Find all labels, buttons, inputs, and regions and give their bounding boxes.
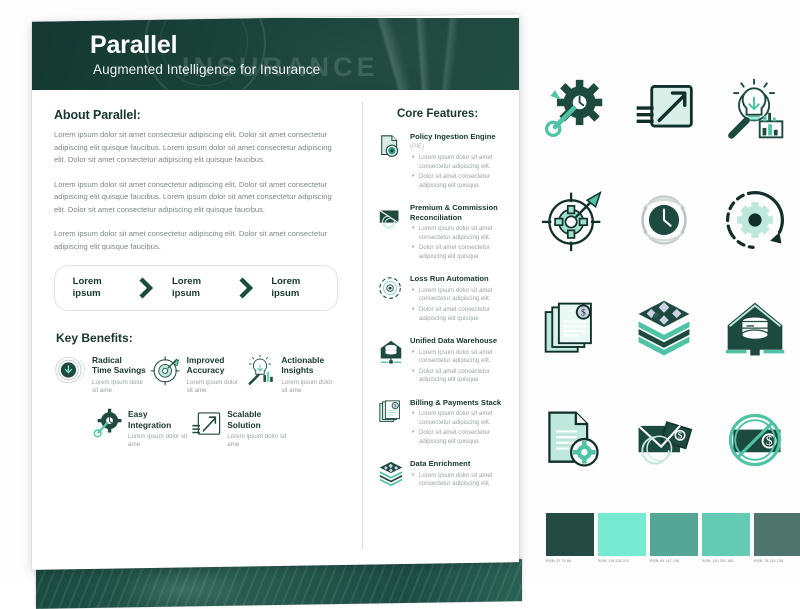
feature-item: $ Billing & Payments Stack Lorem ipsum d… (377, 398, 507, 449)
radar-loss-run-icon (377, 275, 405, 303)
lightbulb-insight-icon (243, 353, 277, 387)
icon-library-board: $ (528, 55, 800, 525)
about-paragraph: Lorem ipsum dolor sit amet consectetur a… (54, 228, 338, 253)
feature-abbrev: (PIE) (410, 143, 424, 150)
page-header-banner: INSURANCE Parallel Augmented Intelligenc… (32, 18, 519, 90)
swatch-chip (546, 513, 594, 556)
benefit-desc: Lorem ipsum dolor sit ame (92, 379, 149, 396)
swatch-chip (598, 513, 646, 556)
feature-name: Loss Run Automation (410, 274, 489, 283)
benefit-desc: Lorem ipsum dolor sit ame (281, 379, 338, 396)
swatch-chip (702, 513, 750, 556)
key-benefits-row-2: EasyIntegration Lorem ipsum dolor sit am… (54, 407, 338, 461)
color-swatch: RGB: 37 74 66 (546, 513, 594, 563)
color-swatch: RGB: 119 235 210 (598, 513, 646, 563)
feature-item: Data Enrichment Lorem ipsum dolor sit am… (377, 459, 507, 491)
no-money-icon: $ (709, 385, 800, 495)
color-swatch: RGB: 100 202 180 (702, 513, 750, 563)
color-palette: RGB: 37 74 66 RGB: 119 235 210 RGB: 84 1… (546, 513, 800, 563)
data-layers-icon (619, 275, 710, 385)
benefit-item: EasyIntegration Lorem ipsum dolor sit am… (90, 407, 189, 449)
benefit-item: RadicalTime Savings Lorem ipsum dolor si… (54, 353, 149, 395)
svg-text:$: $ (678, 431, 683, 442)
chevron-right-icon (238, 277, 254, 299)
feature-item: Policy Ingestion Engine (PIE) Lorem ipsu… (377, 132, 507, 192)
swatch-label: RGB: 84 167 149 (650, 559, 698, 563)
benefit-desc: Lorem ipsum dolor sit ame (187, 379, 244, 396)
right-column: Core Features: Policy Ingestion Eng (363, 94, 519, 566)
svg-text:$: $ (766, 433, 773, 448)
data-layers-icon (377, 460, 405, 488)
growth-arrow-box-icon (619, 55, 710, 165)
svg-text:$: $ (581, 307, 586, 318)
brand-name: Parallel (90, 32, 320, 58)
benefit-item: ActionableInsights Lorem ipsum dolor sit… (243, 353, 338, 395)
feature-name: Data Enrichment (410, 459, 470, 468)
key-benefits-title: Key Benefits: (56, 331, 338, 345)
billing-documents-icon: $ (377, 399, 405, 427)
feature-bullet: Lorem ipsum dolor sit amet consectetur a… (419, 154, 507, 171)
feature-bullet: Dolor sit amet consectetur adipiscing el… (419, 429, 507, 446)
document-gear-icon (377, 133, 405, 161)
target-gear-arrow-icon (528, 165, 619, 275)
data-warehouse-house-icon (709, 275, 800, 385)
feature-bullet: Lorem ipsum dolor sit amet consectetur a… (419, 472, 507, 489)
feature-name: Premium & Commission Reconciliation (410, 203, 498, 221)
brand-block: Parallel Augmented Intelligence for Insu… (90, 32, 320, 77)
benefit-title: ActionableInsights (281, 355, 338, 376)
swatch-label: RGB: 78 116 108 (754, 559, 800, 563)
process-steps-card: Lorem ipsum Lorem ipsum Lorem ipsum (54, 265, 338, 311)
core-features-title: Core Features: (397, 108, 507, 120)
feature-bullet: Dolor sit amet consectetur adipiscing el… (419, 244, 507, 261)
process-step[interactable]: Lorem ipsum (55, 276, 138, 300)
feature-bullet: Lorem ipsum dolor sit amet consectetur a… (419, 410, 507, 427)
target-gear-icon (149, 353, 183, 387)
gear-refresh-cycle-icon (709, 165, 800, 275)
feature-bullet: Lorem ipsum dolor sit amet consectetur a… (419, 349, 507, 366)
swatch-label: RGB: 119 235 210 (598, 559, 646, 563)
money-documents-icon: $ (528, 275, 619, 385)
design-canvas: INSURANCE Parallel Augmented Intelligenc… (0, 0, 800, 584)
key-benefits-row-1: RadicalTime Savings Lorem ipsum dolor si… (54, 353, 338, 407)
feature-item: Premium & Commission Reconciliation Lore… (377, 203, 507, 263)
feature-name: Policy Ingestion Engine (410, 132, 496, 141)
growth-arrow-icon (189, 407, 223, 441)
swatch-label: RGB: 100 202 180 (702, 559, 750, 563)
feature-name: Unified Data Warehouse (410, 336, 497, 345)
brand-tagline: Augmented Intelligence for Insurance (93, 62, 320, 77)
benefit-item: ScalableSolution Lorem ipsum dolor sit a… (189, 407, 288, 449)
benefit-desc: Lorem ipsum dolor sit ame (227, 433, 288, 450)
color-swatch: RGB: 84 167 149 (650, 513, 698, 563)
data-warehouse-icon (377, 337, 405, 365)
about-title: About Parallel: (54, 108, 338, 122)
process-step-label: Lorem ipsum (271, 276, 319, 300)
feature-item: Unified Data Warehouse Lorem ipsum dolor… (377, 336, 507, 387)
content-columns: About Parallel: Lorem ipsum dolor sit am… (32, 94, 519, 566)
process-step-label: Lorem ipsum (172, 276, 220, 300)
money-envelope-icon (377, 204, 405, 232)
brand-one-pager-sheet: INSURANCE Parallel Augmented Intelligenc… (32, 14, 519, 570)
process-step[interactable]: Lorem ipsum (254, 276, 337, 300)
benefit-desc: Lorem ipsum dolor sit ame (128, 433, 189, 450)
benefit-title: ScalableSolution (227, 409, 288, 430)
benefit-title: EasyIntegration (128, 409, 189, 430)
swatch-chip (754, 513, 800, 556)
process-step-label: Lorem ipsum (73, 276, 121, 300)
clock-radar-icon (619, 165, 710, 275)
process-step[interactable]: Lorem ipsum (154, 276, 237, 300)
feature-bullet: Lorem ipsum dolor sit amet consectetur a… (419, 225, 507, 242)
lightbulb-magnifier-chart-icon (709, 55, 800, 165)
benefit-title: RadicalTime Savings (92, 355, 149, 376)
benefit-item: ImprovedAccuracy Lorem ipsum dolor sit a… (149, 353, 244, 395)
feature-bullet: Dolor sit amet consectetur adipiscing el… (419, 173, 507, 190)
time-savings-icon (54, 353, 88, 387)
feature-bullet: Dolor sit amet consectetur adipiscing el… (419, 368, 507, 385)
chevron-right-icon (138, 277, 154, 299)
color-swatch: RGB: 78 116 108 (754, 513, 800, 563)
about-paragraph: Lorem ipsum dolor sit amet consectetur a… (54, 129, 338, 167)
feature-name: Billing & Payments Stack (410, 398, 501, 407)
document-gear-icon (528, 385, 619, 495)
benefit-title: ImprovedAccuracy (187, 355, 244, 376)
feature-bullet: Dolor sit amet consectetur adipiscing el… (419, 306, 507, 323)
about-paragraph: Lorem ipsum dolor sit amet consectetur a… (54, 179, 338, 217)
swatch-chip (650, 513, 698, 556)
money-envelope-icon: $ (619, 385, 710, 495)
gear-wrench-icon (528, 55, 619, 165)
gear-wrench-icon (90, 407, 124, 441)
swatch-label: RGB: 37 74 66 (546, 559, 594, 563)
left-column: About Parallel: Lorem ipsum dolor sit am… (32, 94, 362, 566)
icon-grid: $ (528, 55, 800, 495)
feature-item: Loss Run Automation Lorem ipsum dolor si… (377, 274, 507, 325)
feature-bullet: Lorem ipsum dolor sit amet consectetur a… (419, 287, 507, 304)
